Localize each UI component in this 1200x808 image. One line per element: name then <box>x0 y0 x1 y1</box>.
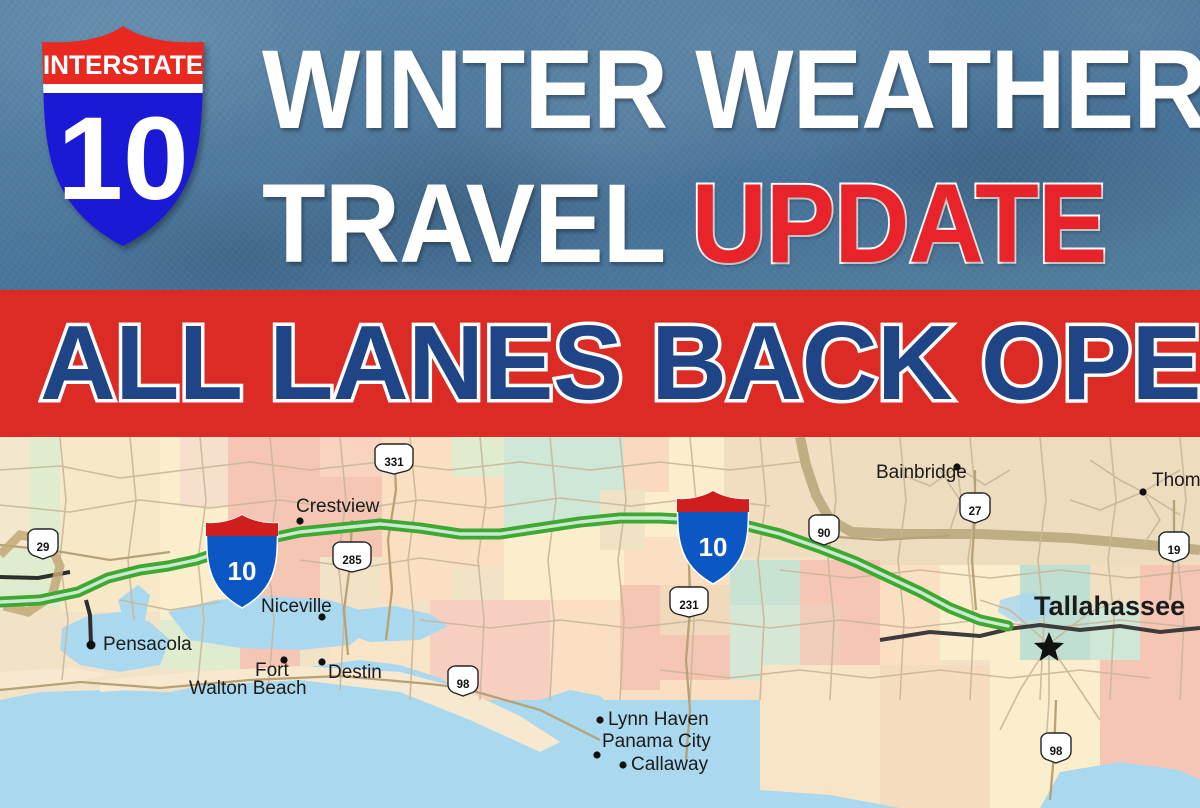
city-label-walton-beach: Walton Beach <box>189 678 307 699</box>
route-map: Pensacola Crestview Niceville Fort Walto… <box>0 437 1200 808</box>
svg-text:331: 331 <box>384 457 404 469</box>
city-label-callaway: Callaway <box>631 754 709 775</box>
route-shield-331: 331 <box>375 444 413 474</box>
svg-text:10: 10 <box>699 532 728 562</box>
city-label-niceville: Niceville <box>261 596 332 617</box>
svg-text:231: 231 <box>679 600 699 612</box>
city-label-thomasville: Thomas <box>1152 470 1200 491</box>
svg-text:90: 90 <box>818 528 831 540</box>
route-shield-98-coast: 98 <box>448 666 478 696</box>
headline-line-2-red: UPDATE <box>691 161 1106 286</box>
headline-line-2: TRAVEL UPDATE <box>262 168 1127 280</box>
city-label-lynn-haven: Lynn Haven <box>608 709 709 730</box>
headline-line-2-white: TRAVEL <box>262 161 691 286</box>
svg-text:98: 98 <box>1050 746 1063 758</box>
shield-interstate-word: INTERSTATE <box>43 50 203 80</box>
headline-line-1: WINTER WEATHER <box>262 34 1127 146</box>
route-shield-98-south: 98 <box>1041 733 1071 763</box>
city-label-pensacola: Pensacola <box>103 634 192 655</box>
route-shield-90: 90 <box>809 515 839 545</box>
city-label-destin: Destin <box>328 662 382 683</box>
svg-text:29: 29 <box>37 542 50 554</box>
svg-text:285: 285 <box>342 555 362 567</box>
route-shield-27: 27 <box>960 493 990 523</box>
shield-divider <box>28 84 218 93</box>
header-banner: INTERSTATE 10 WINTER WEATHER TRAVEL UPDA… <box>0 0 1200 290</box>
winter-weather-travel-update-graphic: INTERSTATE 10 WINTER WEATHER TRAVEL UPDA… <box>0 0 1200 808</box>
svg-text:98: 98 <box>457 679 470 691</box>
city-label-crestview: Crestview <box>296 496 380 517</box>
headline: WINTER WEATHER TRAVEL UPDATE <box>262 34 1192 254</box>
route-shield-285: 285 <box>333 542 371 572</box>
status-banner: ALL LANES BACK OPEN <box>0 290 1200 437</box>
city-label-tallahassee: Tallahassee <box>1034 591 1185 621</box>
route-shield-231: 231 <box>670 587 708 617</box>
city-label-panama-city: Panama City <box>602 731 711 752</box>
status-banner-text: ALL LANES BACK OPEN <box>40 299 1174 427</box>
city-label-bainbridge: Bainbridge <box>876 462 967 483</box>
svg-text:10: 10 <box>228 556 257 586</box>
svg-text:19: 19 <box>1168 545 1181 557</box>
route-shield-29: 29 <box>28 529 58 559</box>
svg-text:27: 27 <box>969 506 982 518</box>
route-shield-19: 19 <box>1159 532 1189 562</box>
interstate-shield-icon: INTERSTATE 10 <box>28 22 218 250</box>
shield-route-number: 10 <box>57 93 188 225</box>
